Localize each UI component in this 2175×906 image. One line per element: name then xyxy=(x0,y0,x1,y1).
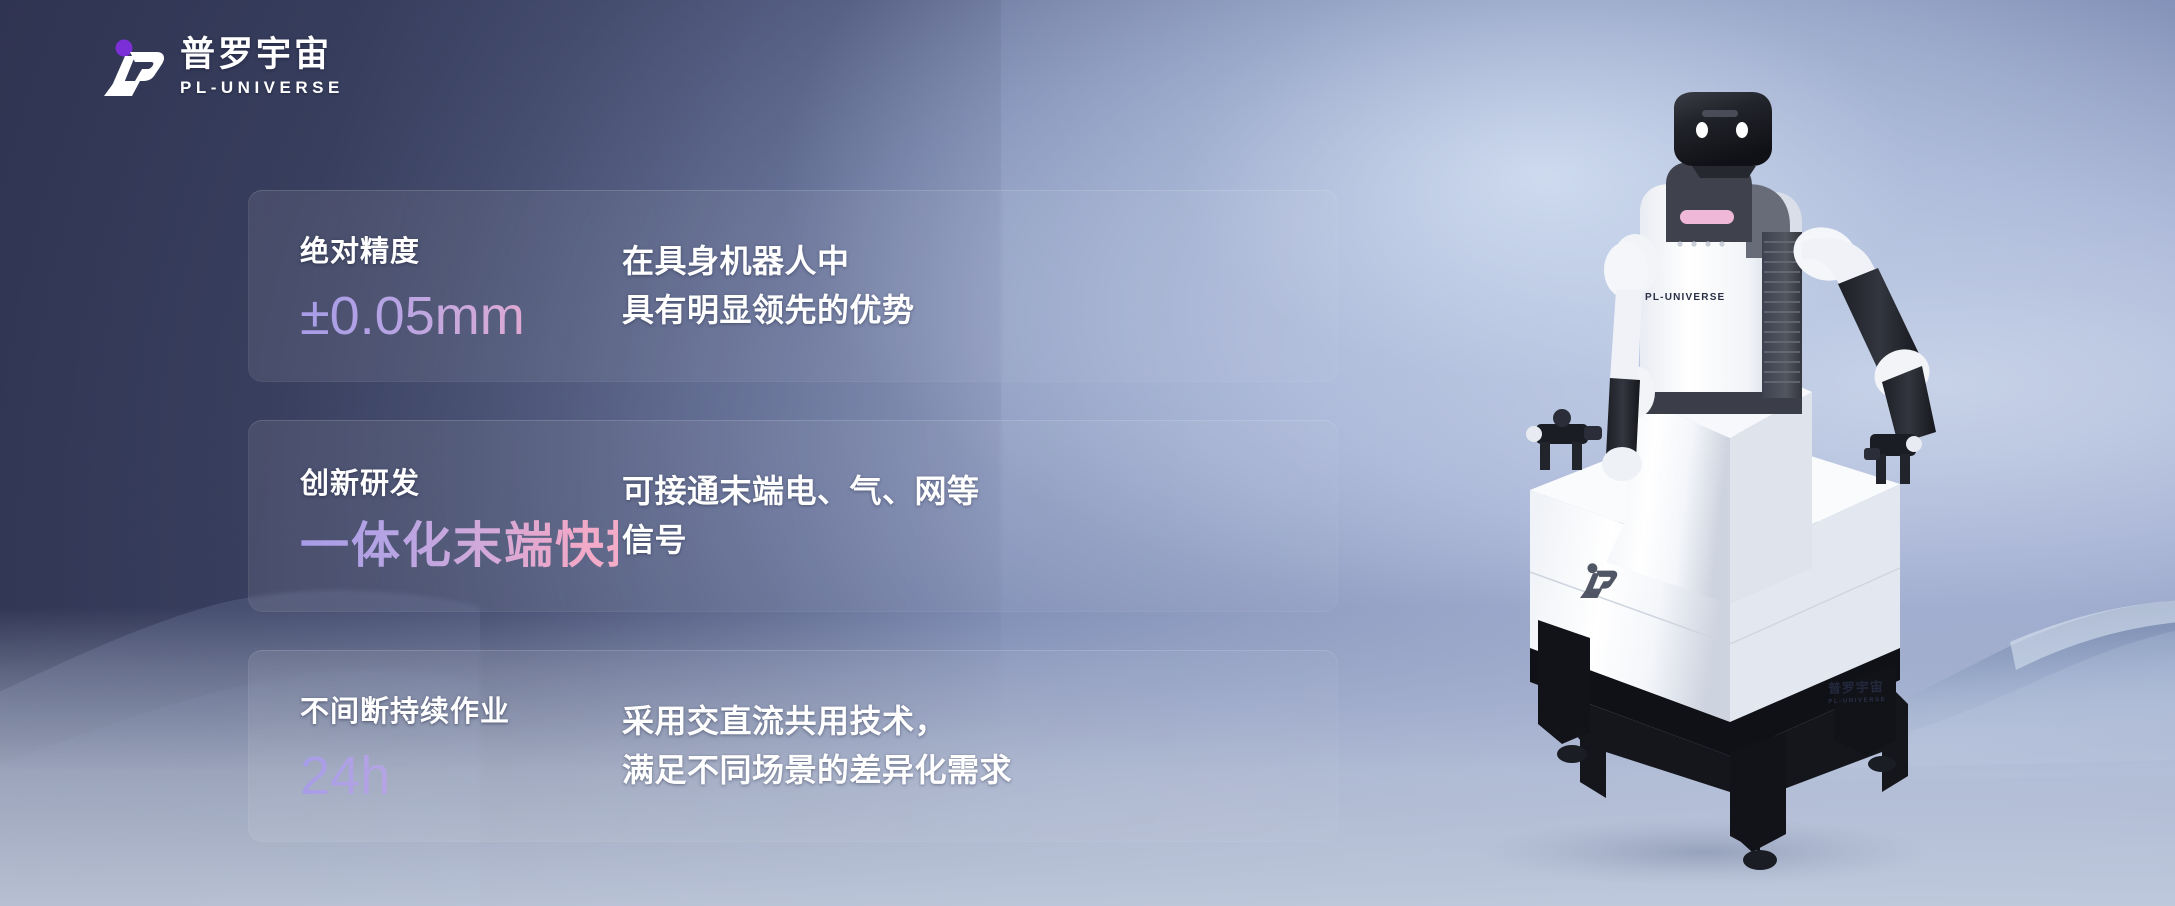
stat-label: 不间断持续作业 xyxy=(300,688,618,730)
card-stat-block: 创新研发 一体化末端快换 xyxy=(248,460,618,571)
card-description-block: 在具身机器人中 具有明显领先的优势 xyxy=(618,237,1338,334)
slide-canvas: 普罗宇宙 PL-UNIVERSE 绝对精度 ±0.05mm 在具身机器人中 具有… xyxy=(0,0,2175,906)
brand-name-en: PL-UNIVERSE xyxy=(180,79,344,96)
robot-base-badge-cn: 普罗宇宙 xyxy=(1828,676,1885,697)
stat-value: 一体化末端快换 xyxy=(300,520,618,571)
feature-card[interactable]: 绝对精度 ±0.05mm 在具身机器人中 具有明显领先的优势 xyxy=(248,190,1338,382)
card-stat-block: 不间断持续作业 24h xyxy=(248,688,618,805)
robot-product-image: PL-UNIVERSE 普罗宇宙 PL-UNIVERSE xyxy=(1430,92,1990,892)
brand-name-cn: 普罗宇宙 xyxy=(180,38,344,73)
robot-chest-badge: PL-UNIVERSE xyxy=(1645,292,1725,303)
card-description: 在具身机器人中 具有明显领先的优势 xyxy=(622,237,1338,334)
stat-value: 24h xyxy=(300,748,618,805)
robot-base-badge: 普罗宇宙 PL-UNIVERSE xyxy=(1828,676,1887,705)
brand-logo: 普罗宇宙 PL-UNIVERSE xyxy=(104,38,344,96)
feature-card[interactable]: 不间断持续作业 24h 采用交直流共用技术， 满足不同场景的差异化需求 xyxy=(248,650,1338,842)
card-stat-block: 绝对精度 ±0.05mm xyxy=(248,228,618,345)
card-description: 采用交直流共用技术， 满足不同场景的差异化需求 xyxy=(622,697,1338,794)
feature-card-list: 绝对精度 ±0.05mm 在具身机器人中 具有明显领先的优势 创新研发 一体化末… xyxy=(248,190,1338,842)
stat-value: ±0.05mm xyxy=(300,288,618,345)
card-description-block: 采用交直流共用技术， 满足不同场景的差异化需求 xyxy=(618,697,1338,794)
feature-card[interactable]: 创新研发 一体化末端快换 可接通末端电、气、网等 信号 xyxy=(248,420,1338,612)
ip-logo-icon xyxy=(104,38,166,96)
stat-label: 创新研发 xyxy=(300,460,618,502)
card-description: 可接通末端电、气、网等 信号 xyxy=(622,467,1338,564)
stat-label: 绝对精度 xyxy=(300,228,618,270)
card-description-block: 可接通末端电、气、网等 信号 xyxy=(618,467,1338,564)
